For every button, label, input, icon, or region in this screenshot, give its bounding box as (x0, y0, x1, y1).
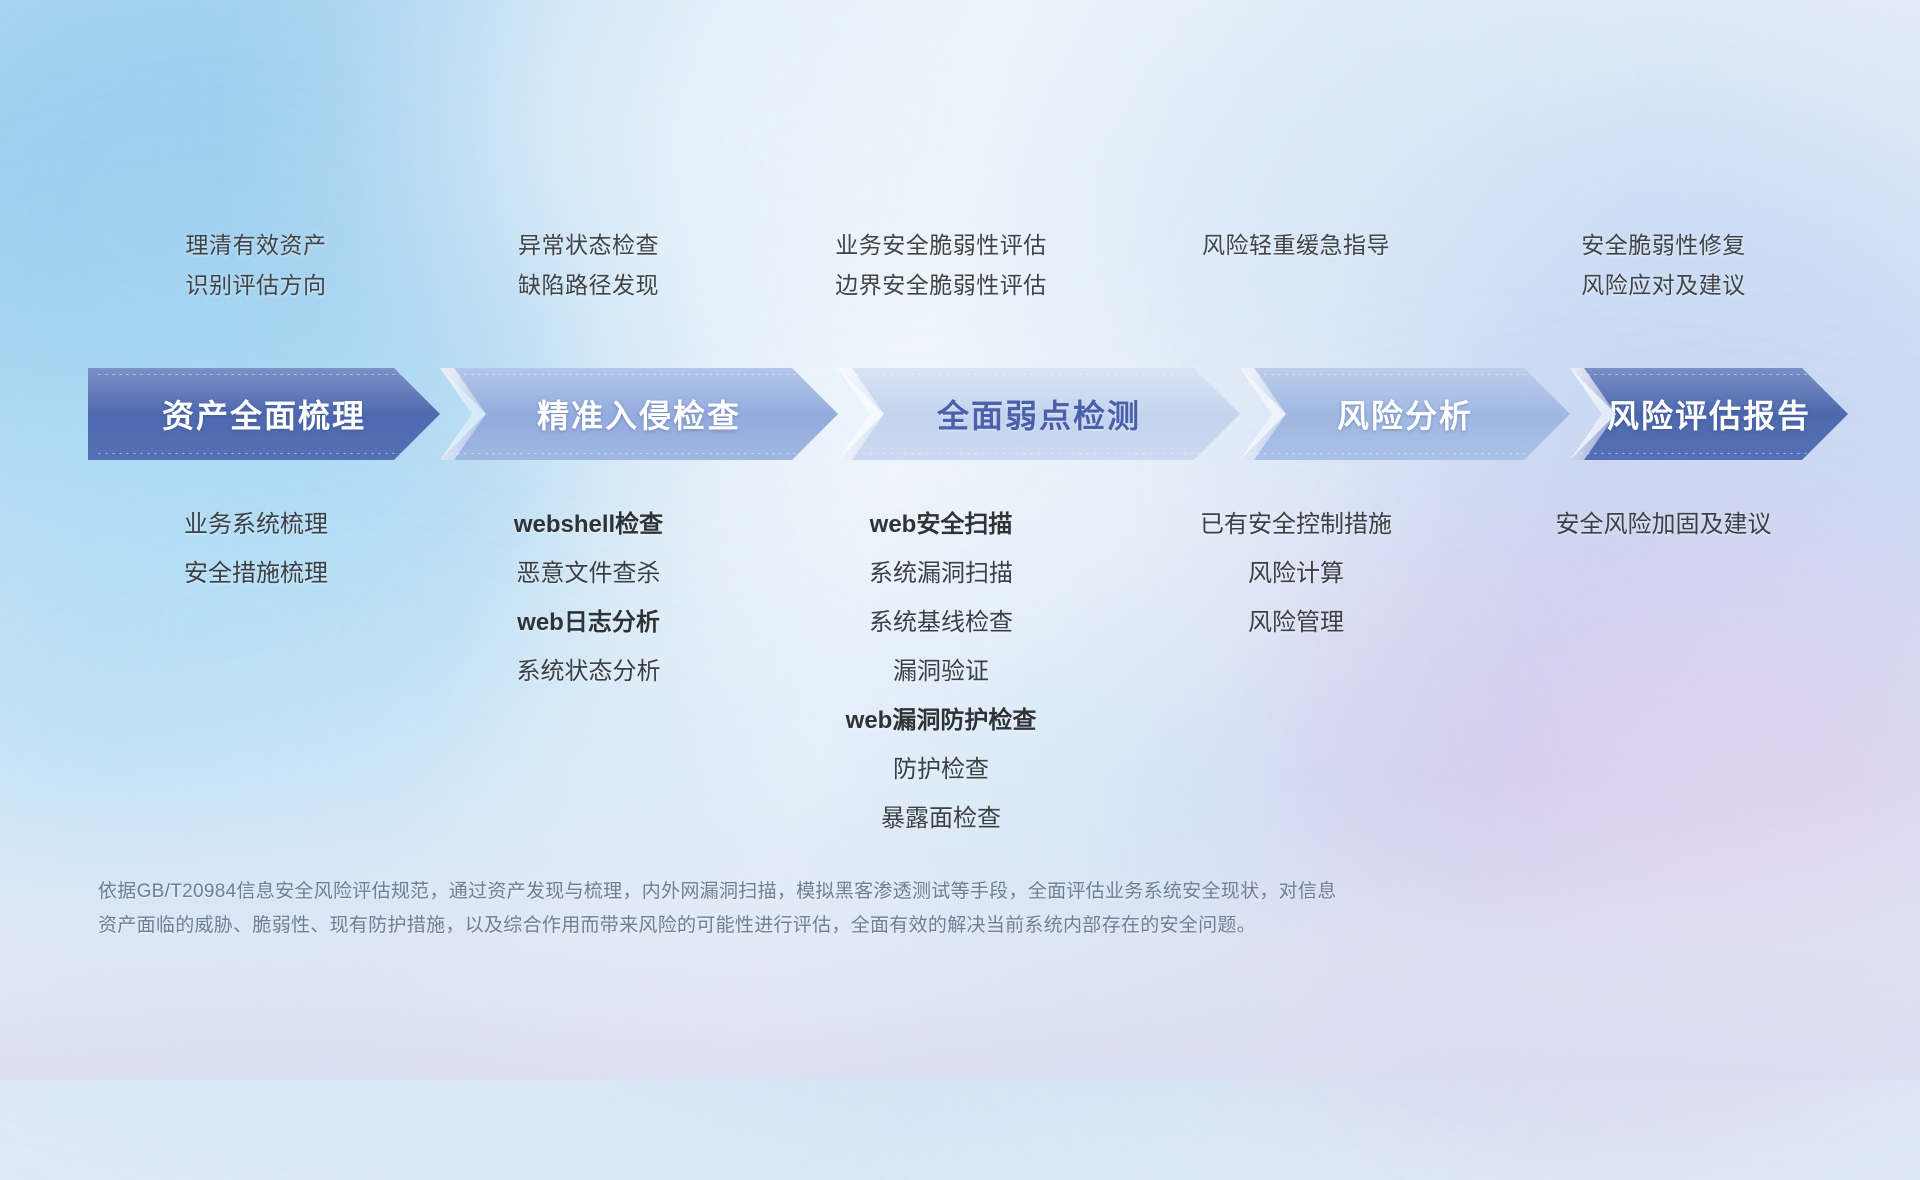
top-item: 理清有效资产 (186, 225, 327, 265)
list-item: 漏洞验证 (893, 647, 989, 696)
bottom-column-4: 已有安全控制措施 风险计算 风险管理 (1121, 500, 1471, 647)
list-item: 安全措施梳理 (184, 549, 328, 598)
stage-label: 风险评估报告 (1607, 391, 1811, 437)
list-item: 风险计算 (1248, 549, 1344, 598)
top-column-2: 异常状态检查 缺陷路径发现 (416, 225, 761, 330)
list-item: 防护检查 (893, 745, 989, 794)
stage-chevron-1[interactable]: 资产全面梳理 (88, 368, 440, 460)
footer-line-1: 依据GB/T20984信息安全风险评估规范，通过资产发现与梳理，内外网漏洞扫描，… (98, 875, 1658, 909)
top-labels-row: 理清有效资产 识别评估方向 异常状态检查 缺陷路径发现 业务安全脆弱性评估 边界… (96, 225, 1856, 330)
stage-label: 全面弱点检测 (937, 391, 1141, 437)
stage-chevron-5[interactable]: 风险评估报告 (1570, 368, 1848, 460)
top-column-1: 理清有效资产 识别评估方向 (96, 225, 416, 330)
list-item: 安全风险加固及建议 (1556, 500, 1772, 549)
list-item: web安全扫描 (870, 500, 1013, 549)
footer-line-2: 资产面临的威胁、脆弱性、现有防护措施，以及综合作用而带来风险的可能性进行评估，全… (98, 909, 1658, 943)
stage-label: 风险分析 (1337, 391, 1473, 437)
list-item: 恶意文件查杀 (517, 549, 661, 598)
stage-label: 资产全面梳理 (162, 391, 366, 437)
top-column-3: 业务安全脆弱性评估 边界安全脆弱性评估 (761, 225, 1121, 330)
bottom-column-5: 安全风险加固及建议 (1471, 500, 1856, 549)
list-item: 暴露面检查 (881, 794, 1001, 843)
footer-description: 依据GB/T20984信息安全风险评估规范，通过资产发现与梳理，内外网漏洞扫描，… (98, 875, 1658, 943)
list-item: 系统漏洞扫描 (869, 549, 1013, 598)
stage-chevron-4[interactable]: 风险分析 (1240, 368, 1570, 460)
bottom-column-1: 业务系统梳理 安全措施梳理 (96, 500, 416, 598)
stage-label: 精准入侵检查 (537, 391, 741, 437)
stage-chevron-2[interactable]: 精准入侵检查 (440, 368, 838, 460)
list-item: 系统基线检查 (869, 598, 1013, 647)
list-item: web漏洞防护检查 (846, 696, 1037, 745)
bottom-lists-row: 业务系统梳理 安全措施梳理 webshell检查 恶意文件查杀 web日志分析 … (96, 500, 1856, 843)
top-item: 异常状态检查 (518, 225, 659, 265)
top-item: 缺陷路径发现 (518, 265, 659, 305)
list-item: webshell检查 (514, 500, 663, 549)
top-item: 风险应对及建议 (1581, 265, 1746, 305)
stage-chevron-banner: 资产全面梳理 精准入侵检查 全面弱点检测 风险分析 风险评估报告 (88, 368, 1848, 460)
top-item: 业务安全脆弱性评估 (835, 225, 1047, 265)
list-item: web日志分析 (517, 598, 660, 647)
top-item: 安全脆弱性修复 (1581, 225, 1746, 265)
top-column-4: 风险轻重缓急指导 (1121, 225, 1471, 330)
process-diagram: 理清有效资产 识别评估方向 异常状态检查 缺陷路径发现 业务安全脆弱性评估 边界… (0, 0, 1920, 1080)
top-item: 识别评估方向 (186, 265, 327, 305)
list-item: 业务系统梳理 (184, 500, 328, 549)
top-column-5: 安全脆弱性修复 风险应对及建议 (1471, 225, 1856, 330)
list-item: 风险管理 (1248, 598, 1344, 647)
list-item: 已有安全控制措施 (1200, 500, 1392, 549)
list-item: 系统状态分析 (517, 647, 661, 696)
top-item: 风险轻重缓急指导 (1202, 225, 1390, 265)
top-item: 边界安全脆弱性评估 (835, 265, 1047, 305)
stage-chevron-3[interactable]: 全面弱点检测 (838, 368, 1240, 460)
bottom-column-2: webshell检查 恶意文件查杀 web日志分析 系统状态分析 (416, 500, 761, 696)
bottom-column-3: web安全扫描 系统漏洞扫描 系统基线检查 漏洞验证 web漏洞防护检查 防护检… (761, 500, 1121, 843)
